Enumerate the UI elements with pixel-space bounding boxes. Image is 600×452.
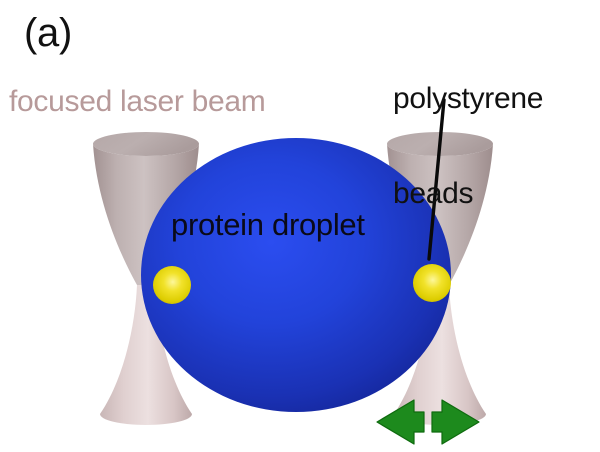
laser-beam-label: focused laser beam [9, 86, 265, 118]
figure-panel-a: (a) focused laser beam polystyrene beads… [0, 0, 600, 452]
panel-label: (a) [24, 12, 72, 54]
laser-cone-left-top-cap [93, 132, 199, 156]
polystyrene-beads-label-line1: polystyrene [393, 83, 543, 115]
polystyrene-beads-label: polystyrene beads [393, 19, 543, 273]
polystyrene-bead-left [153, 266, 191, 304]
polystyrene-beads-label-line2: beads [393, 178, 543, 210]
protein-droplet-label: protein droplet [171, 209, 365, 242]
